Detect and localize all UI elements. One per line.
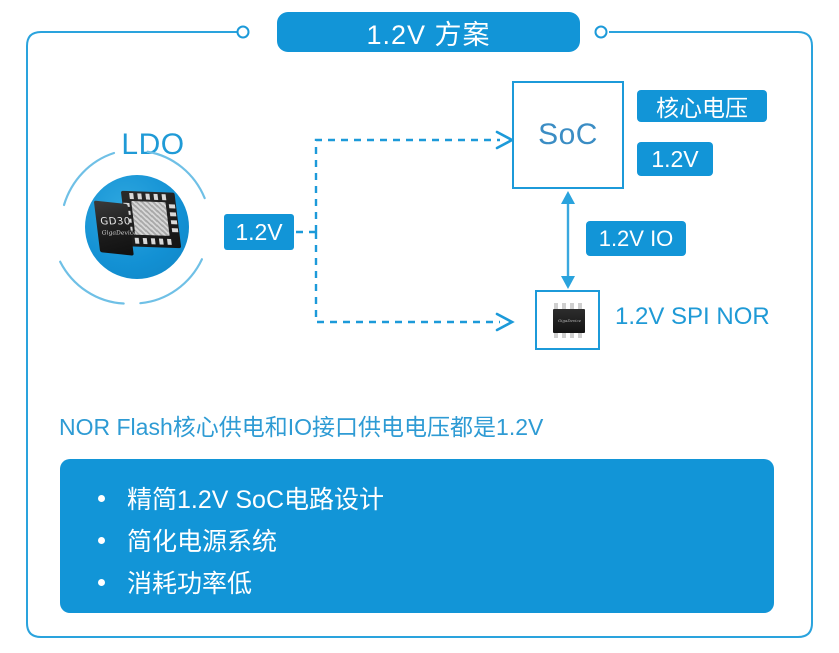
bullet-dot-icon xyxy=(98,537,105,544)
chip-part-number: GD30 xyxy=(100,216,132,227)
list-item-label: 消耗功率低 xyxy=(127,564,252,600)
ldo-graphic: GD30 GigaDevice xyxy=(57,148,217,306)
page-title: 1.2V 方案 xyxy=(277,12,580,52)
core-voltage-tag: 核心电压 xyxy=(637,90,767,122)
bullet-dot-icon xyxy=(98,579,105,586)
list-item-label: 简化电源系统 xyxy=(127,522,277,558)
ldo-output-voltage-tag: 1.2V xyxy=(224,214,294,250)
nor-chip-image: GigaDevice xyxy=(550,303,588,339)
slide-canvas: 1.2V 方案 LDO xyxy=(0,0,839,653)
io-voltage-tag: 1.2V IO xyxy=(586,221,686,256)
list-item: 简化电源系统 xyxy=(98,519,774,561)
caption-text: NOR Flash核心供电和IO接口供电电压都是1.2V xyxy=(59,408,543,442)
ldo-chip-image: GD30 GigaDevice xyxy=(93,186,184,262)
soc-block: SoC xyxy=(512,81,624,189)
nor-flash-block: GigaDevice xyxy=(535,290,600,350)
chip-front-face: GD30 GigaDevice xyxy=(94,201,134,256)
nor-flash-label: 1.2V SPI NOR xyxy=(615,303,770,331)
list-item: 精简1.2V SoC电路设计 xyxy=(98,477,774,519)
nor-chip-brand-mark: GigaDevice xyxy=(557,317,582,324)
list-item: 消耗功率低 xyxy=(98,561,774,603)
benefits-panel: 精简1.2V SoC电路设计 简化电源系统 消耗功率低 xyxy=(60,459,774,613)
chip-brand-mark: GigaDevice xyxy=(101,230,137,237)
core-voltage-value-tag: 1.2V xyxy=(637,142,713,176)
list-item-label: 精简1.2V SoC电路设计 xyxy=(127,480,384,516)
bullet-dot-icon xyxy=(98,495,105,502)
nor-chip-body: GigaDevice xyxy=(553,309,585,333)
